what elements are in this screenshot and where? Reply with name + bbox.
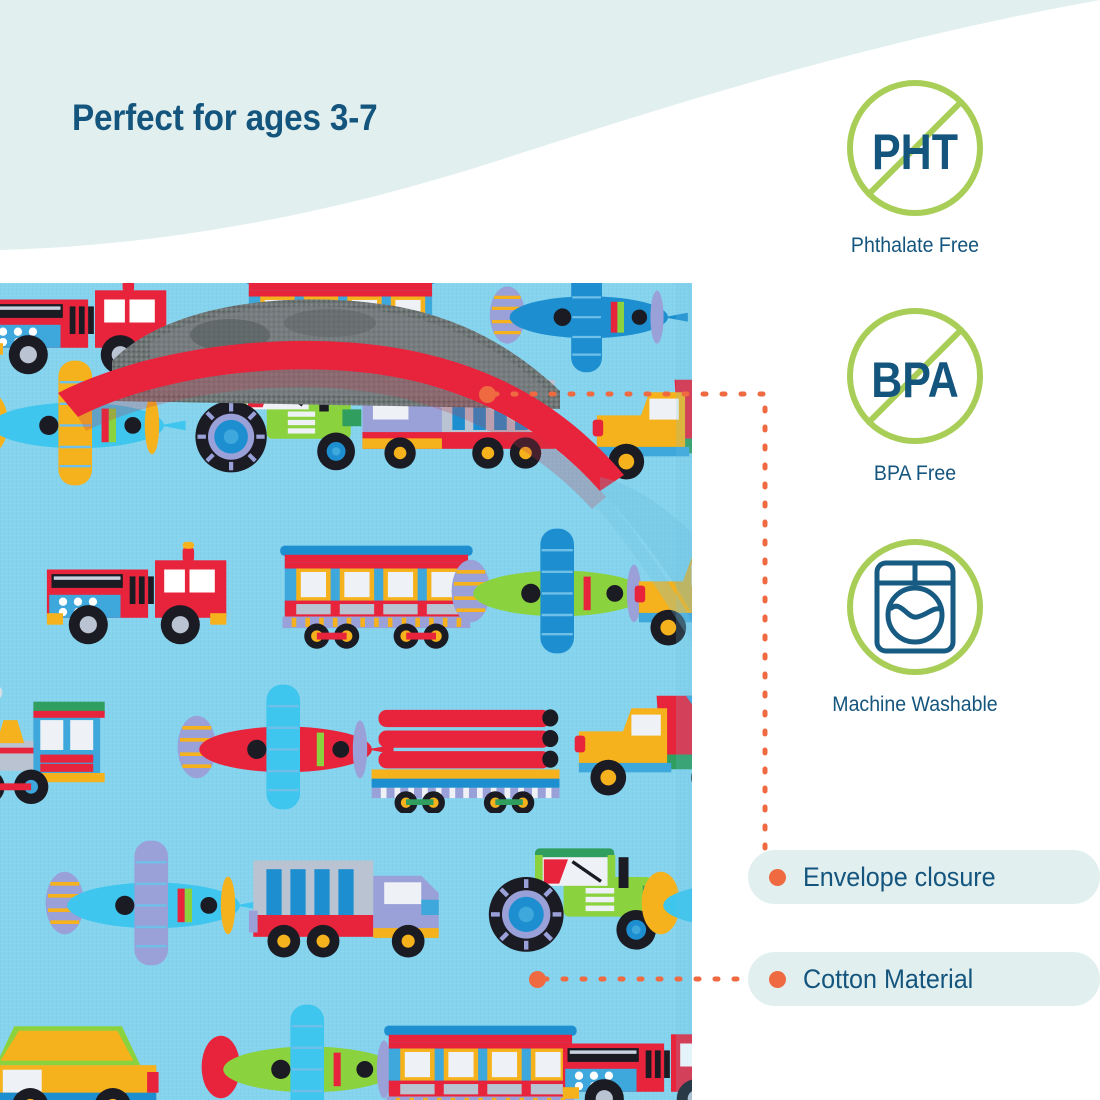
badge-washable-label: Machine Washable — [789, 693, 1040, 717]
badge-bpa-abbrev: BPA — [871, 351, 959, 409]
badge-phthalate-free: PHT Phthalate Free — [780, 78, 1050, 258]
callout-label-envelope: Envelope closure — [803, 862, 996, 893]
badge-washable-icon-wrap — [780, 537, 1050, 687]
infographic-canvas: Perfect for ages 3-7 — [0, 0, 1100, 1100]
callout-dot-cotton — [769, 971, 786, 988]
callout-label-cotton: Cotton Material — [803, 964, 973, 995]
washing-machine-icon — [845, 537, 985, 677]
badge-bpa-free: BPA BPA Free — [780, 306, 1050, 486]
anchor-dot-envelope — [479, 386, 496, 403]
product-photo-fabric — [0, 283, 692, 1100]
page-title: Perfect for ages 3-7 — [72, 97, 377, 139]
badge-bpa-icon-wrap: BPA — [780, 306, 1050, 456]
badge-bpa-label: BPA Free — [789, 462, 1040, 486]
badge-phthalate-label: Phthalate Free — [789, 234, 1040, 258]
anchor-dot-cotton — [529, 971, 546, 988]
badge-phthalate-abbrev: PHT — [872, 123, 958, 181]
badge-phthalate-icon-wrap: PHT — [780, 78, 1050, 228]
callout-pill-envelope-closure: Envelope closure — [748, 850, 1100, 904]
callout-pill-cotton-material: Cotton Material — [748, 952, 1100, 1006]
fabric-illustration — [0, 283, 692, 1100]
callout-dot-envelope — [769, 869, 786, 886]
badge-machine-washable: Machine Washable — [780, 537, 1050, 717]
